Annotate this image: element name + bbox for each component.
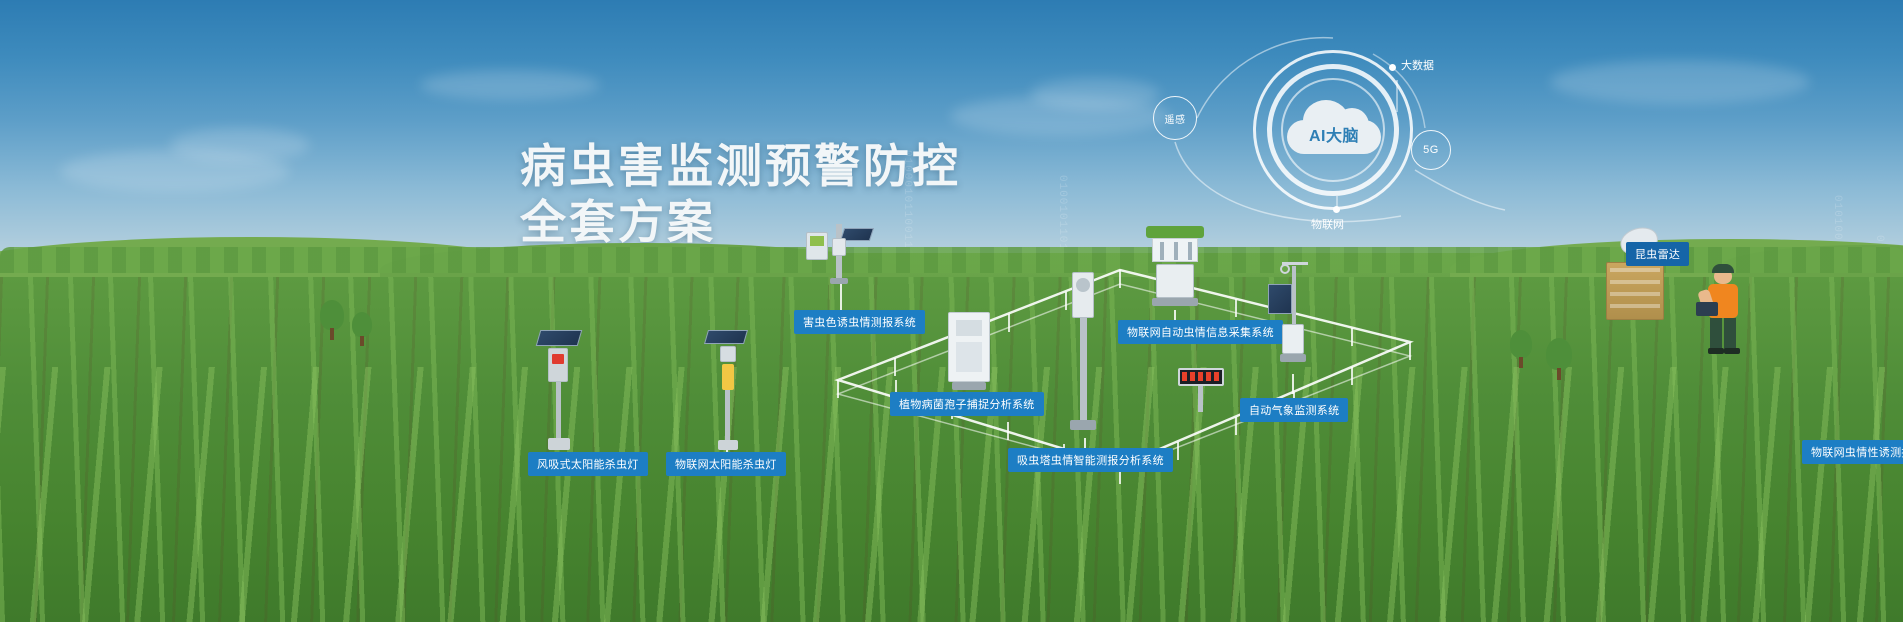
ai-brain-label: AI大脑: [1287, 122, 1381, 146]
cloud-shape: [420, 70, 600, 100]
led-display-board: [1178, 368, 1224, 414]
label-plant-pathogen-spore-capture-analysis-system[interactable]: 植物病菌孢子捕捉分析系统: [890, 392, 1044, 416]
page-title: 病虫害监测预警防控 全套方案: [520, 138, 961, 250]
tree-icon: [352, 312, 372, 346]
label-insect-radar[interactable]: 昆虫雷达: [1626, 242, 1689, 266]
node-big-data-dot: [1389, 64, 1396, 71]
ai-brain-cluster: AI大脑 遥感 5G 大数据 物联网: [1105, 20, 1525, 240]
node-big-data-label: 大数据: [1401, 57, 1434, 73]
device-wind-suction-solar-insect-lamp[interactable]: [536, 330, 582, 452]
tree-icon: [320, 300, 344, 340]
label-pest-color-trap-report-system[interactable]: 害虫色诱虫情测报系统: [794, 310, 925, 334]
label-iot-automatic-pest-info-collection-system[interactable]: 物联网自动虫情信息采集系统: [1118, 320, 1283, 344]
label-wind-suction-solar-insect-lamp[interactable]: 风吸式太阳能杀虫灯: [528, 452, 648, 476]
device-plant-pathogen-spore-capture-analysis-system[interactable]: [948, 312, 996, 396]
leader-line: [1292, 374, 1294, 394]
node-5g[interactable]: 5G: [1411, 130, 1451, 170]
device-iot-automatic-pest-info-collection-system[interactable]: [1138, 226, 1214, 310]
ai-brain-cloud-icon: AI大脑: [1287, 96, 1381, 154]
cloud-shape: [170, 128, 310, 162]
device-pest-color-trap-report-system[interactable]: [806, 224, 876, 284]
tree-icon: [1546, 338, 1572, 380]
headline-line-2: 全套方案: [520, 194, 961, 250]
node-5g-label: 5G: [1423, 144, 1439, 156]
tree-icon: [1510, 330, 1532, 368]
headline-line-1: 病虫害监测预警防控: [520, 138, 961, 194]
device-automatic-weather-monitoring-system[interactable]: [1268, 262, 1314, 374]
label-suction-tower-intelligent-report-analysis-system[interactable]: 吸虫塔虫情智能测报分析系统: [1008, 448, 1173, 472]
leader-line: [840, 284, 842, 310]
cloud-shape: [1550, 60, 1810, 104]
label-automatic-weather-monitoring-system[interactable]: 自动气象监测系统: [1240, 398, 1348, 422]
label-iot-pheromone-trap-report-system[interactable]: 物联网虫情性诱测报系统: [1802, 440, 1903, 464]
label-iot-solar-insect-lamp[interactable]: 物联网太阳能杀虫灯: [666, 452, 786, 476]
device-suction-tower-intelligent-report-analysis-system[interactable]: [1066, 272, 1102, 438]
leader-line: [1174, 310, 1176, 320]
field-worker-figure: [1696, 268, 1756, 354]
node-remote-sensing[interactable]: 遥感: [1153, 96, 1197, 140]
node-iot-label: 物联网: [1311, 216, 1344, 232]
device-iot-solar-insect-lamp[interactable]: [706, 330, 750, 450]
node-remote-sensing-label: 遥感: [1165, 111, 1186, 126]
pest-monitoring-banner: 01000101100110 0100101101011 01010010110…: [0, 0, 1903, 622]
node-iot-dot: [1333, 206, 1340, 213]
